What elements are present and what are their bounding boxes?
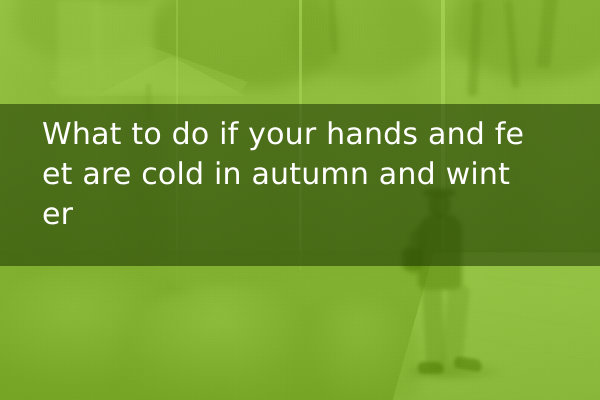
- headline-text: What to do if your hands and fe et are c…: [42, 104, 586, 266]
- article-title-card: What to do if your hands and fe et are c…: [0, 0, 600, 400]
